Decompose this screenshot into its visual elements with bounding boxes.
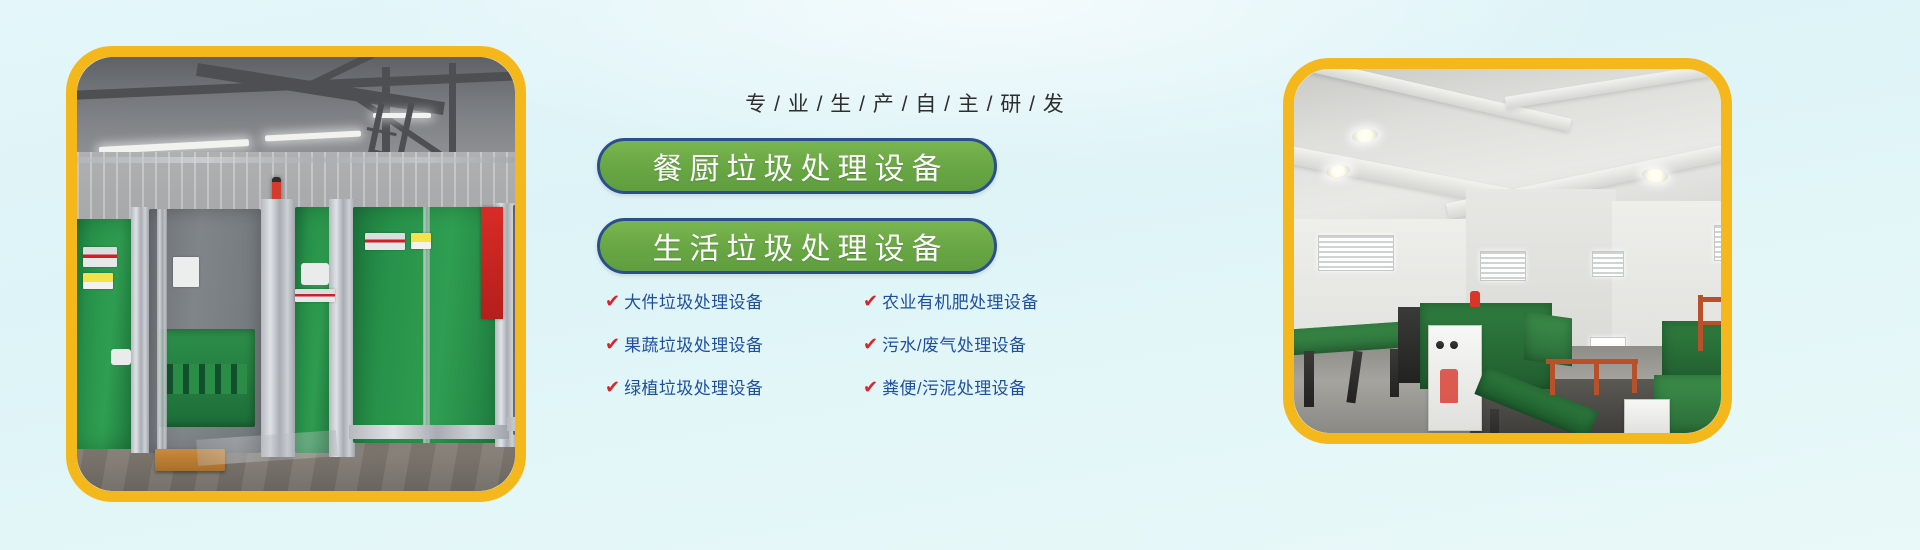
feature-list: ✔ 大件垃圾处理设备 ✔ 农业有机肥处理设备 ✔ 果蔬垃圾处理设备 ✔ 污水/废… <box>585 288 1225 399</box>
feature-label: 大件垃圾处理设备 <box>624 288 763 313</box>
pill-label: 餐厨垃圾处理设备 <box>646 144 949 188</box>
feature-label: 污水/废气处理设备 <box>882 331 1026 356</box>
check-icon: ✔ <box>863 335 878 353</box>
left-photo-image <box>77 57 515 491</box>
pill-button-household-waste[interactable]: 生活垃圾处理设备 <box>597 218 997 274</box>
wall-window-center-2 <box>1592 251 1624 277</box>
left-photo-frame[interactable] <box>66 46 526 502</box>
right-photo-frame[interactable] <box>1283 58 1732 444</box>
secondary-shredder <box>1662 321 1721 383</box>
check-icon: ✔ <box>605 378 620 396</box>
feature-label: 果蔬垃圾处理设备 <box>624 331 763 356</box>
center-content: 专 / 业 / 生 / 产 / 自 / 主 / 研 / 发 餐厨垃圾处理设备 生… <box>585 0 1225 550</box>
feature-item-manure-sludge[interactable]: ✔ 粪便/污泥处理设备 <box>863 374 1103 399</box>
check-icon: ✔ <box>605 335 620 353</box>
feature-item-organic-fertilizer[interactable]: ✔ 农业有机肥处理设备 <box>863 288 1103 313</box>
feature-label: 农业有机肥处理设备 <box>882 288 1039 313</box>
red-vertical-banner <box>481 207 503 319</box>
pill-button-food-waste[interactable]: 餐厨垃圾处理设备 <box>597 138 997 194</box>
wall-louver-left <box>1318 235 1394 271</box>
feature-item-bulky-waste[interactable]: ✔ 大件垃圾处理设备 <box>605 288 845 313</box>
wall-louver-right <box>1714 225 1721 261</box>
feature-item-sewage-waste-gas[interactable]: ✔ 污水/废气处理设备 <box>863 331 1103 356</box>
tagline: 专 / 业 / 生 / 产 / 自 / 主 / 研 / 发 <box>585 88 1225 118</box>
wall-window-center <box>1480 251 1526 281</box>
safety-rail <box>1546 359 1638 364</box>
promo-banner: 专 / 业 / 生 / 产 / 自 / 主 / 研 / 发 餐厨垃圾处理设备 生… <box>0 0 1920 550</box>
right-photo-image <box>1294 69 1721 433</box>
feature-label: 绿植垃圾处理设备 <box>624 374 763 399</box>
feature-label: 粪便/污泥处理设备 <box>882 374 1026 399</box>
feature-item-fruit-vegetable-waste[interactable]: ✔ 果蔬垃圾处理设备 <box>605 331 845 356</box>
check-icon: ✔ <box>605 292 620 310</box>
machine-cabinet-right <box>513 205 515 435</box>
feature-item-green-plant-waste[interactable]: ✔ 绿植垃圾处理设备 <box>605 374 845 399</box>
pill-label: 生活垃圾处理设备 <box>646 224 949 268</box>
check-icon: ✔ <box>863 378 878 396</box>
brand-logo <box>301 263 329 285</box>
check-icon: ✔ <box>863 292 878 310</box>
